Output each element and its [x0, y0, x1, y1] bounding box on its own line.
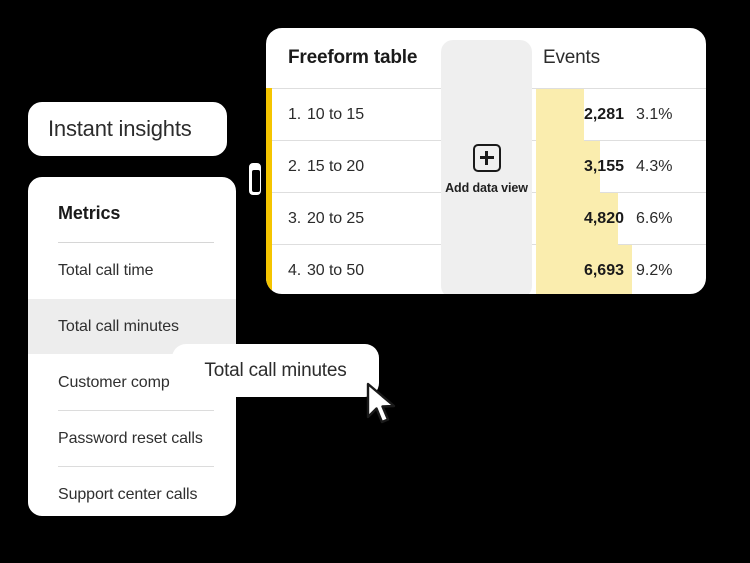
table-cell-percent: 4.3%	[636, 141, 690, 193]
table-cell-dimension: 3. 20 to 25	[288, 193, 364, 245]
metric-item-support-center-calls[interactable]: Support center calls	[28, 467, 236, 518]
screenshot-canvas: Instant insights Metrics Total call time…	[0, 0, 750, 563]
metric-item-label: Total call time	[58, 262, 153, 280]
table-cell-value: 3,155	[552, 141, 624, 193]
add-data-view-panel[interactable]: Add data view	[441, 40, 532, 296]
table-row-rank: 1.	[288, 106, 307, 124]
table-cell-value: 6,693	[552, 245, 624, 296]
metric-item-label: Password reset calls	[58, 430, 203, 448]
table-cell-percent: 9.2%	[636, 245, 690, 296]
table-cell-dimension: 4. 30 to 50	[288, 245, 364, 296]
table-cell-dimension: 1. 10 to 15	[288, 89, 364, 141]
table-accent-bar	[266, 88, 272, 296]
metric-tooltip-label: Total call minutes	[204, 360, 346, 382]
table-row-dimension-label: 20 to 25	[307, 210, 364, 228]
instant-insights-pill[interactable]: Instant insights	[26, 100, 229, 158]
metric-item-total-call-time[interactable]: Total call time	[28, 243, 236, 298]
table-cell-value: 4,820	[552, 193, 624, 245]
instant-insights-label: Instant insights	[48, 116, 192, 142]
add-data-view-label: Add data view	[445, 181, 528, 195]
table-row-dimension-label: 30 to 50	[307, 262, 364, 280]
table-row-dimension-label: 10 to 15	[307, 106, 364, 124]
table-row-rank: 3.	[288, 210, 307, 228]
metrics-panel-title: Metrics	[28, 177, 236, 224]
table-cell-percent: 3.1%	[636, 89, 690, 141]
panel-connector-handle-icon[interactable]	[246, 160, 264, 198]
freeform-table-panel: Freeform table Events 1. 10 to 15 2,281 …	[264, 26, 708, 296]
table-cell-value: 2,281	[552, 89, 624, 141]
metric-item-password-reset-calls[interactable]: Password reset calls	[28, 411, 236, 466]
table-cell-dimension: 2. 15 to 20	[288, 141, 364, 193]
metric-item-label: Total call minutes	[58, 318, 179, 336]
metric-item-label: Support center calls	[58, 486, 197, 504]
plus-square-icon[interactable]	[473, 144, 501, 172]
table-title: Freeform table	[288, 47, 417, 69]
mouse-pointer-icon	[366, 382, 400, 426]
table-row-rank: 4.	[288, 262, 307, 280]
table-row-rank: 2.	[288, 158, 307, 176]
metric-item-label: Customer comp	[58, 374, 170, 392]
table-column-header-events: Events	[543, 47, 600, 69]
table-row-dimension-label: 15 to 20	[307, 158, 364, 176]
table-cell-percent: 6.6%	[636, 193, 690, 245]
metric-tooltip: Total call minutes	[172, 344, 379, 397]
